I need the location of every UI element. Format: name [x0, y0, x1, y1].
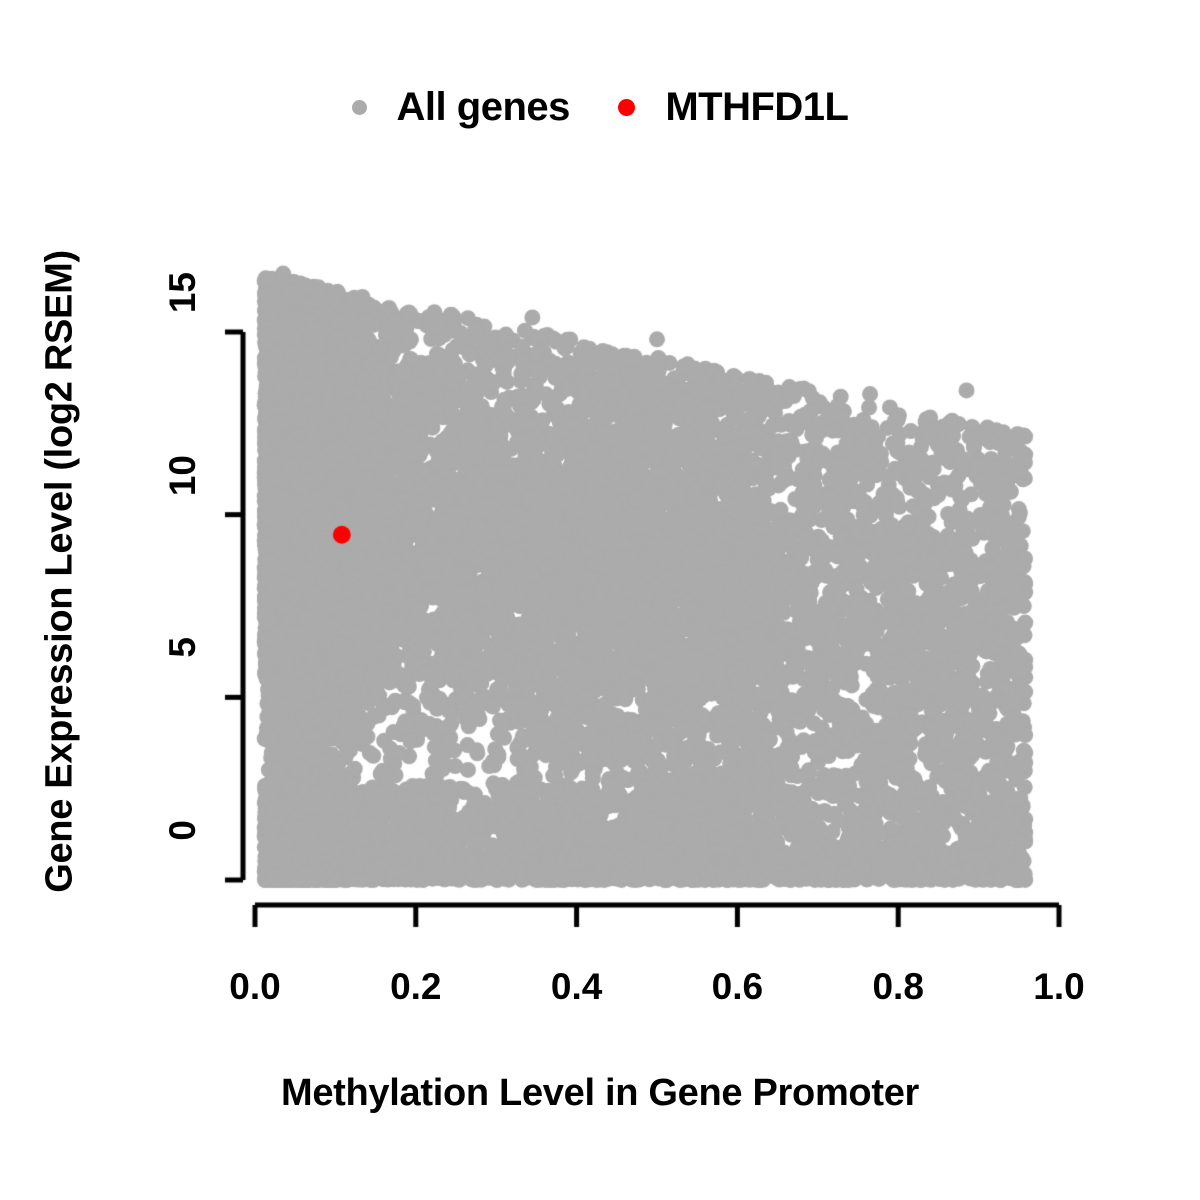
- gray-dot-icon: [352, 100, 367, 115]
- x-tick-label: 1.0: [979, 966, 1139, 1008]
- scatter-plot-figure: All genes MTHFD1L Gene Expression Level …: [0, 0, 1200, 1200]
- scatter-plot-canvas: [0, 0, 1200, 1200]
- x-tick-label: 0.6: [657, 966, 817, 1008]
- y-tick-label: 10: [159, 455, 207, 575]
- y-axis-title: Gene Expression Level (log2 RSEM): [39, 0, 82, 1172]
- x-tick-label: 0.4: [497, 966, 657, 1008]
- legend-entry-mthfd1l: MTHFD1L: [618, 85, 848, 130]
- red-dot-icon: [618, 99, 635, 116]
- y-tick-label: 15: [159, 272, 207, 392]
- x-tick-label: 0.8: [818, 966, 978, 1008]
- legend-label-all-genes: All genes: [397, 85, 570, 130]
- legend-label-mthfd1l: MTHFD1L: [665, 85, 848, 130]
- y-tick-label: 5: [159, 637, 207, 757]
- x-tick-label: 0.2: [336, 966, 496, 1008]
- y-tick-label: 0: [159, 820, 207, 940]
- chart-legend: All genes MTHFD1L: [0, 85, 1200, 130]
- x-tick-label: 0.0: [175, 966, 335, 1008]
- x-axis-title: Methylation Level in Gene Promoter: [0, 1072, 1200, 1115]
- legend-entry-all-genes: All genes: [352, 85, 570, 130]
